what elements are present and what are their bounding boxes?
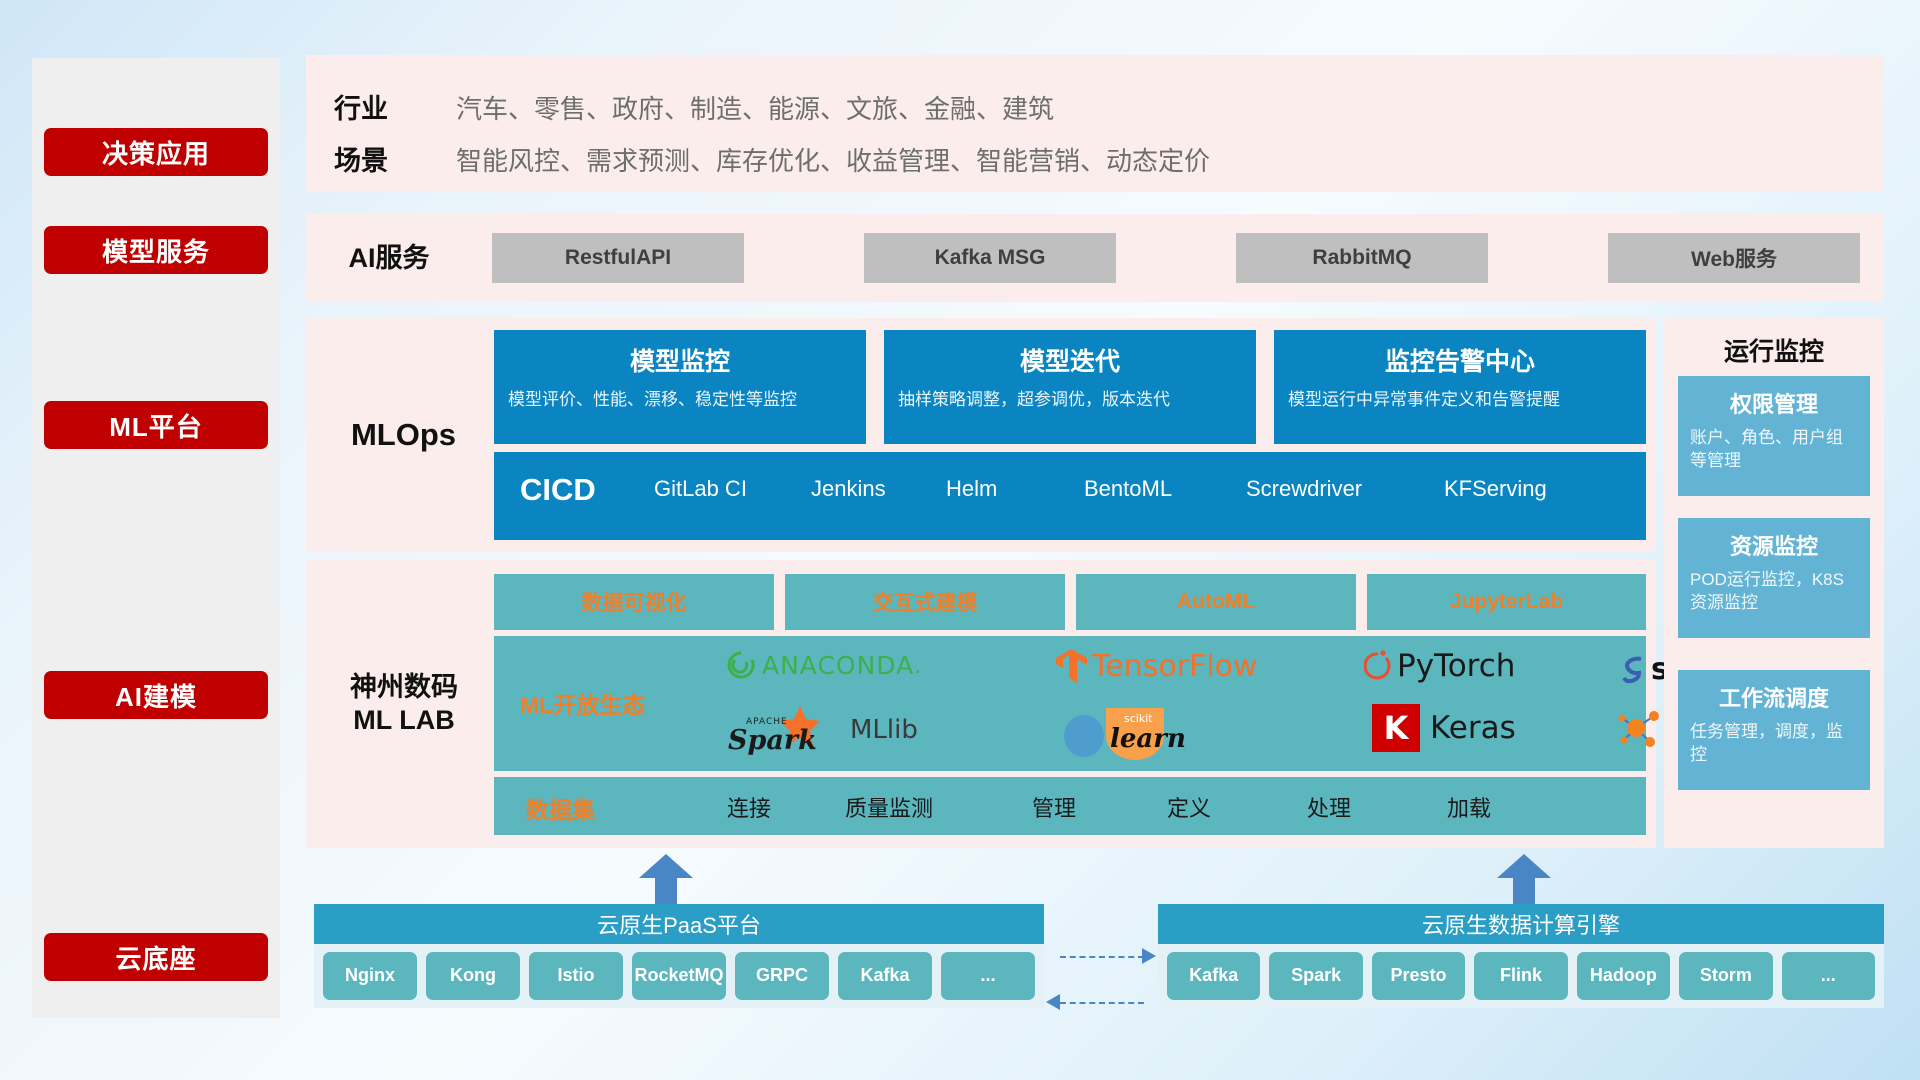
anaconda-label: ANACONDA — [762, 651, 914, 680]
keras-logo: K Keras — [1372, 704, 1516, 752]
compute-chip-more[interactable]: ... — [1782, 952, 1875, 1000]
dataset-item-process[interactable]: 处理 — [1274, 791, 1384, 823]
dataset-item-manage[interactable]: 管理 — [999, 791, 1109, 823]
model-service-band: AI服务 RestfulAPI Kafka MSG RabbitMQ Web服务 — [306, 214, 1884, 302]
cicd-item-jenkins[interactable]: Jenkins — [811, 476, 919, 501]
sas-icon — [1616, 653, 1650, 687]
compute-chip-presto[interactable]: Presto — [1372, 952, 1465, 1000]
cicd-item-kfserving[interactable]: KFServing — [1444, 476, 1569, 501]
cicd-item-screwdriver[interactable]: Screwdriver — [1246, 476, 1371, 501]
monitor-card-permission[interactable]: 权限管理 账户、角色、用户组等管理 — [1678, 376, 1870, 496]
dataset-strip: 数据集 连接 质量监测 管理 定义 处理 加载 — [494, 777, 1646, 835]
tensorflow-icon — [1054, 648, 1088, 684]
runtime-monitor-panel: 运行监控 权限管理 账户、角色、用户组等管理 资源监控 POD运行监控，K8S资… — [1664, 318, 1884, 848]
monitor-card-workflow[interactable]: 工作流调度 任务管理，调度，监控 — [1678, 670, 1870, 790]
mllib-label: MLlib — [850, 715, 918, 745]
rail-chip-ml-platform[interactable]: ML平台 — [44, 401, 268, 449]
mlops-card-alert-center[interactable]: 监控告警中心 模型运行中异常事件定义和告警提醒 — [1274, 330, 1646, 444]
mlops-card-desc: 抽样策略调整，超参调优，版本迭代 — [898, 388, 1242, 412]
tab-data-visualization[interactable]: 数据可视化 — [494, 574, 774, 630]
dataset-item-connect[interactable]: 连接 — [694, 791, 804, 823]
scikit-learn-logo: scikit learn — [1062, 702, 1192, 760]
ai-service-rabbitmq[interactable]: RabbitMQ — [1236, 233, 1488, 283]
compute-chip-flink[interactable]: Flink — [1474, 952, 1567, 1000]
svg-text:learn: learn — [1110, 724, 1186, 754]
paas-chip-nginx[interactable]: Nginx — [323, 952, 417, 1000]
industry-value: 汽车、零售、政府、制造、能源、文旅、金融、建筑 — [456, 89, 1054, 126]
compute-chip-hadoop[interactable]: Hadoop — [1577, 952, 1670, 1000]
monitor-card-desc: POD运行监控，K8S资源监控 — [1690, 569, 1858, 615]
mlops-card-desc: 模型评价、性能、漂移、稳定性等监控 — [508, 388, 852, 412]
compute-chip-row: Kafka Spark Presto Flink Hadoop Storm ..… — [1158, 944, 1884, 1008]
spark-mllib-logo: APACHE Spark MLlib — [726, 704, 918, 756]
ai-service-web[interactable]: Web服务 — [1608, 233, 1860, 283]
paas-chip-more[interactable]: ... — [941, 952, 1035, 1000]
compute-chip-storm[interactable]: Storm — [1679, 952, 1772, 1000]
mlops-card-model-monitoring[interactable]: 模型监控 模型评价、性能、漂移、稳定性等监控 — [494, 330, 866, 444]
monitor-card-resource[interactable]: 资源监控 POD运行监控，K8S资源监控 — [1678, 518, 1870, 638]
ai-service-kafka-msg[interactable]: Kafka MSG — [864, 233, 1116, 283]
tab-jupyterlab[interactable]: JupyterLab — [1367, 574, 1646, 630]
mlops-card-title: 模型监控 — [494, 342, 866, 378]
rail-chip-model-service[interactable]: 模型服务 — [44, 226, 268, 274]
ml-ecosystem-panel: ML开放生态 ANACONDA . APACHE Spark MLlib — [494, 636, 1646, 771]
tab-interactive-modeling[interactable]: 交互式建模 — [785, 574, 1065, 630]
ml-lab-label: 神州数码 ML LAB — [314, 560, 494, 848]
compute-box: 云原生数据计算引擎 Kafka Spark Presto Flink Hadoo… — [1158, 904, 1884, 1008]
anaconda-icon — [726, 650, 756, 680]
paas-box: 云原生PaaS平台 Nginx Kong Istio RocketMQ GRPC… — [314, 904, 1044, 1008]
rail-chip-decision-app[interactable]: 决策应用 — [44, 128, 268, 176]
rail-chip-ai-modeling[interactable]: AI建模 — [44, 671, 268, 719]
architecture-diagram: 决策应用 模型服务 ML平台 AI建模 云底座 行业 汽车、零售、政府、制造、能… — [0, 0, 1920, 1080]
ml-lab-label-line1: 神州数码 — [350, 671, 458, 704]
tab-automl[interactable]: AutoML — [1076, 574, 1356, 630]
ai-service-restfulapi[interactable]: RestfulAPI — [492, 233, 744, 283]
ai-modeling-band: 神州数码 ML LAB 数据可视化 交互式建模 AutoML JupyterLa… — [306, 560, 1656, 848]
scenario-value: 智能风控、需求预测、库存优化、收益管理、智能营销、动态定价 — [456, 141, 1210, 178]
networkx-icon — [1616, 708, 1664, 752]
compute-chip-kafka[interactable]: Kafka — [1167, 952, 1260, 1000]
dataset-item-load[interactable]: 加载 — [1414, 791, 1524, 823]
mlops-card-title: 模型迭代 — [884, 342, 1256, 378]
dataset-title: 数据集 — [526, 791, 595, 825]
dataset-item-quality[interactable]: 质量监测 — [834, 791, 944, 823]
paas-chip-kong[interactable]: Kong — [426, 952, 520, 1000]
monitor-card-title: 工作流调度 — [1678, 681, 1870, 713]
scikit-learn-icon: scikit learn — [1062, 702, 1192, 760]
paas-chip-rocketmq[interactable]: RocketMQ — [632, 952, 726, 1000]
keras-label: Keras — [1430, 710, 1516, 746]
runtime-monitor-title: 运行监控 — [1664, 332, 1884, 368]
tensorflow-label: TensorFlow — [1092, 649, 1258, 684]
pytorch-label: PyTorch — [1397, 648, 1515, 684]
paas-chip-row: Nginx Kong Istio RocketMQ GRPC Kafka ... — [314, 944, 1044, 1008]
cicd-title: CICD — [520, 472, 596, 508]
compute-title: 云原生数据计算引擎 — [1158, 904, 1884, 944]
svg-text:Spark: Spark — [728, 725, 817, 756]
monitor-card-desc: 任务管理，调度，监控 — [1690, 721, 1858, 767]
paas-title: 云原生PaaS平台 — [314, 904, 1044, 944]
keras-icon: K — [1372, 704, 1420, 752]
cicd-strip: CICD GitLab CI Jenkins Helm BentoML Scre… — [494, 452, 1646, 540]
mlops-card-title: 监控告警中心 — [1274, 342, 1646, 378]
mlops-card-model-iteration[interactable]: 模型迭代 抽样策略调整，超参调优，版本迭代 — [884, 330, 1256, 444]
monitor-card-desc: 账户、角色、用户组等管理 — [1690, 427, 1858, 473]
mlops-label: MLOps — [316, 318, 491, 552]
cicd-item-bentoml[interactable]: BentoML — [1084, 476, 1192, 501]
paas-chip-grpc[interactable]: GRPC — [735, 952, 829, 1000]
mlops-band: MLOps 模型监控 模型评价、性能、漂移、稳定性等监控 模型迭代 抽样策略调整… — [306, 318, 1656, 552]
rail-chip-cloud-base[interactable]: 云底座 — [44, 933, 268, 981]
cicd-item-helm[interactable]: Helm — [946, 476, 1054, 501]
spark-icon: APACHE Spark — [726, 704, 842, 756]
pytorch-icon — [1364, 649, 1392, 683]
decision-application-band: 行业 汽车、零售、政府、制造、能源、文旅、金融、建筑 场景 智能风控、需求预测、… — [306, 55, 1884, 192]
tensorflow-logo: TensorFlow — [1054, 648, 1258, 684]
ml-ecosystem-label: ML开放生态 — [520, 686, 645, 720]
monitor-card-title: 资源监控 — [1678, 529, 1870, 561]
ai-service-label: AI服务 — [334, 214, 444, 302]
dataset-item-define[interactable]: 定义 — [1134, 791, 1244, 823]
ai-modeling-tabs: 数据可视化 交互式建模 AutoML JupyterLab — [494, 574, 1646, 630]
paas-chip-istio[interactable]: Istio — [529, 952, 623, 1000]
paas-chip-kafka[interactable]: Kafka — [838, 952, 932, 1000]
anaconda-logo: ANACONDA . — [726, 650, 921, 680]
compute-chip-spark[interactable]: Spark — [1269, 952, 1362, 1000]
pytorch-logo: PyTorch — [1364, 648, 1515, 684]
monitor-card-title: 权限管理 — [1678, 387, 1870, 419]
mlops-card-desc: 模型运行中异常事件定义和告警提醒 — [1288, 388, 1632, 412]
cicd-item-gitlab-ci[interactable]: GitLab CI — [654, 476, 762, 501]
left-rail: 决策应用 模型服务 ML平台 AI建模 云底座 — [32, 58, 280, 1018]
scenario-key: 场景 — [334, 139, 388, 178]
industry-key: 行业 — [334, 87, 388, 126]
ml-lab-label-line2: ML LAB — [350, 704, 458, 737]
